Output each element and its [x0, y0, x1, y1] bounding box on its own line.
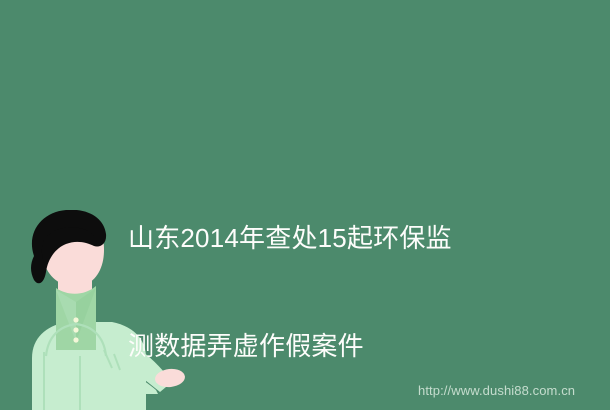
collar-button-1 [73, 317, 78, 322]
headline-line-2: 测数据弄虚作假案件 [128, 328, 568, 364]
watermark-url: http://www.dushi88.com.cn [418, 383, 575, 398]
collar-button-3 [73, 337, 78, 342]
headline-line-1: 山东2014年查处15起环保监 [128, 220, 568, 256]
collar-button-2 [73, 327, 78, 332]
news-banner-image: 山东2014年查处15起环保监 测数据弄虚作假案件 http://www.dus… [0, 0, 610, 410]
page-title: 山东2014年查处15起环保监 测数据弄虚作假案件 [128, 148, 568, 410]
